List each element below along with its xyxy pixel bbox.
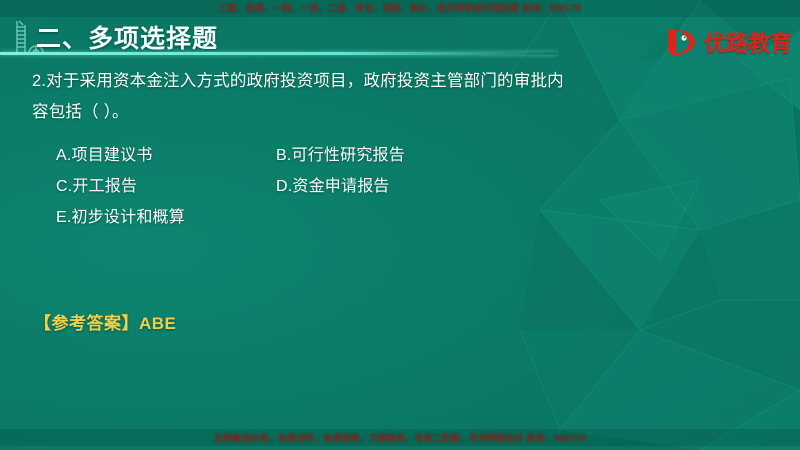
slide-root: 二建、监理、一建、一造、二造、安全、消防、造价、经济师等招代理加盟 咨询：369… (0, 0, 800, 450)
option-b[interactable]: B.可行性研究报告 (276, 140, 405, 171)
brand-logo: 优路教育 (665, 26, 792, 58)
option-row: E.初步设计和概算 (56, 202, 616, 233)
page-title: 二、多项选择题 (36, 19, 218, 55)
options-list: A.项目建议书 B.可行性研究报告 C.开工报告 D.资金申请报告 E.初步设计… (56, 140, 616, 233)
option-e[interactable]: E.初步设计和概算 (56, 202, 185, 233)
option-row: C.开工报告 D.资金申请报告 (56, 171, 616, 202)
reference-answer: 【参考答案】ABE (34, 309, 800, 334)
top-marquee-text: 二建、监理、一建、一造、二造、安全、消防、造价、经济师等招代理加盟 咨询：369… (0, 2, 800, 15)
option-a[interactable]: A.项目建议书 (56, 140, 153, 171)
brand-name: 优路教育 (704, 26, 792, 58)
title-underline (0, 52, 556, 55)
option-row: A.项目建议书 B.可行性研究报告 (56, 140, 616, 171)
slide-body: 2.对于采用资本金注入方式的政府投资项目，政府投资主管部门的审批内容包括（ ）。… (0, 66, 800, 334)
question-stem: 2.对于采用资本金注入方式的政府投资项目，政府投资主管部门的审批内容包括（ ）。 (32, 66, 577, 128)
youlu-l-mark-icon (665, 27, 699, 57)
option-d[interactable]: D.资金申请报告 (276, 171, 390, 202)
option-c[interactable]: C.开工报告 (56, 171, 137, 202)
slide-header: 二、多项选择题 优路教育 (0, 16, 800, 60)
bottom-marquee-text: 全网最低价格、免费试听、免费答疑、习题精讲、考前二百题、考试押题包过 咨询：36… (0, 432, 800, 445)
